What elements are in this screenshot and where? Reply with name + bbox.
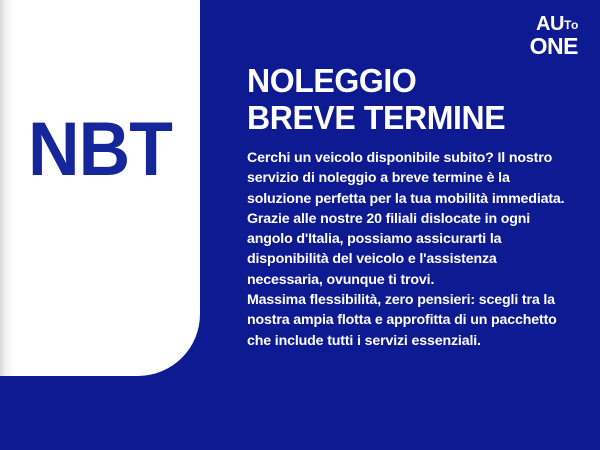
logo-line-auto: AUTo — [530, 14, 578, 34]
promo-banner: NBT AUTo ONE NOLEGGIO BREVE TERMINE Cerc… — [0, 0, 600, 450]
headline-line-2: BREVE TERMINE — [247, 99, 562, 136]
logo-line-one: ONE — [530, 35, 578, 58]
logo-letters-ne: NE — [547, 35, 578, 58]
content-column: NOLEGGIO BREVE TERMINE Cerchi un veicolo… — [247, 62, 572, 351]
logo-letter-u: U — [550, 14, 564, 34]
headline-line-1: NOLEGGIO — [247, 62, 562, 99]
logo-letter-t: T — [564, 19, 571, 31]
logo-letter-o-small: o — [571, 19, 578, 31]
body-paragraph-1: Cerchi un veicolo disponibile subito? Il… — [247, 148, 572, 209]
panel-edge-shadow — [0, 0, 14, 376]
page-title: NOLEGGIO BREVE TERMINE — [247, 62, 562, 136]
left-white-panel: NBT — [0, 0, 200, 376]
body-paragraph-3: Massima flessibilità, zero pensieri: sce… — [247, 290, 572, 351]
brand-mark-nbt: NBT — [6, 112, 194, 188]
body-paragraph-2: Grazie alle nostre 20 filiali dislocate … — [247, 209, 572, 290]
logo-letter-a: A — [536, 14, 550, 34]
logo-letter-o-large: O — [530, 35, 547, 58]
autoone-logo: AUTo ONE — [530, 14, 578, 58]
